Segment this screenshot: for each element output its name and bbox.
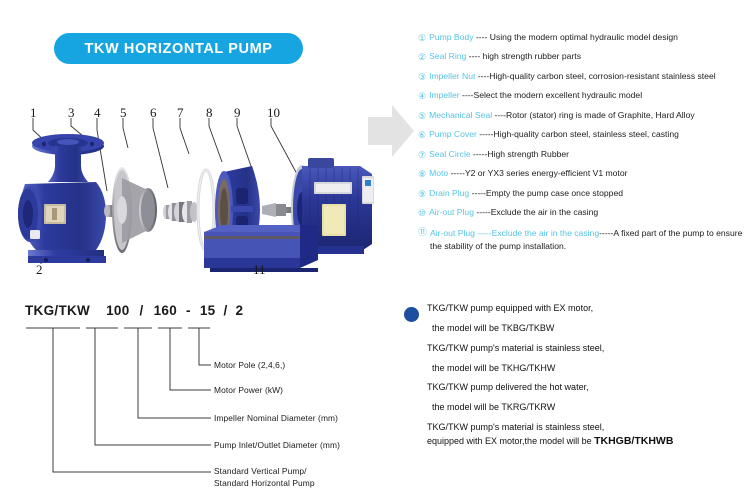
legend-term: Seal Ring [429, 51, 466, 61]
callout-number-8: 8 [206, 106, 213, 119]
legend-description: Using the modern optimal hydraulic model… [490, 32, 678, 42]
callout-number-3: 3 [68, 106, 75, 119]
note-line-5: TKG/TKW pump delivered the hot water, [404, 382, 756, 392]
page-title-banner: TKW HORIZONTAL PUMP [54, 33, 303, 64]
legend-item-6: ⑥ Pump Cover -----High-quality carbon st… [418, 130, 756, 140]
callout-number-5: 5 [120, 106, 127, 119]
legend-dash: ----- [477, 129, 494, 139]
legend-term: Drain Plug [429, 188, 469, 198]
legend-description: high strength rubber parts [483, 51, 581, 61]
nomenclature-label-pump-type-1: Standard Vertical Pump/ [214, 466, 307, 477]
note-final-model: TKHGB/TKHWB [594, 435, 673, 447]
legend-description: High-quality carbon steel, corrosion-res… [489, 71, 715, 81]
callout-number-11: 11 [253, 263, 266, 276]
legend-dash: ---- [492, 110, 506, 120]
legend-circled-number: ⑦ [418, 150, 426, 160]
legend-dash: ----- [469, 188, 486, 198]
callout-number-4: 4 [94, 106, 101, 119]
callout-number-6: 6 [150, 106, 157, 119]
legend-item-11: ⑪ Air-out Plug -----Exclude the air in t… [418, 227, 756, 253]
exploded-pump-illustration [0, 96, 392, 296]
legend-item-5: ⑤ Mechanical Seal ----Rotor (stator) rin… [418, 111, 756, 121]
legend-term: Pump Cover [429, 129, 477, 139]
legend-dash: ---- [474, 32, 490, 42]
legend-circled-number: ⑥ [418, 130, 426, 140]
legend-description: Y2 or YX3 series energy-efficient V1 mot… [465, 168, 628, 178]
callout-number-1: 1 [30, 106, 37, 119]
note-line-2: the model will be TKBG/TKBW [404, 323, 756, 333]
legend-circled-number: ③ [418, 72, 426, 82]
legend-dash: ----- [471, 149, 488, 159]
legend-dash: ---- [466, 51, 482, 61]
note-line-6: the model will be TKRG/TKRW [404, 402, 756, 412]
page-title: TKW HORIZONTAL PUMP [84, 41, 272, 57]
callout-number-9: 9 [234, 106, 241, 119]
note-line-3: TKG/TKW pump's material is stainless ste… [404, 343, 756, 353]
legend-item-7: ⑦ Seal Circle -----High strength Rubber [418, 150, 756, 160]
legend-item-3: ③ Impeller Nut ----High-quality carbon s… [418, 72, 756, 82]
nomenclature-label-pump-type-2: Standard Horizontal Pump [214, 478, 315, 489]
legend-item-8: ⑧ Moto -----Y2 or YX3 series energy-effi… [418, 169, 756, 179]
legend-term: Mechanical Seal [429, 110, 492, 120]
legend-circled-number: ⑧ [418, 169, 426, 179]
note-line-7: TKG/TKW pump's material is stainless ste… [404, 422, 756, 432]
legend-description: High-quality carbon steel, stainless ste… [494, 129, 679, 139]
legend-circled-number: ① [418, 33, 426, 43]
model-variant-notes: TKG/TKW pump equipped with EX motor, the… [404, 303, 756, 457]
legend-circled-number: ② [418, 52, 426, 62]
legend-term: Air-out Plug -----Exclude the air in the… [430, 228, 599, 238]
legend-item-2: ② Seal Ring ---- high strength rubber pa… [418, 52, 756, 62]
pump-spec-sheet: TKW HORIZONTAL PUMP [0, 0, 756, 500]
callout-number-10: 10 [267, 106, 280, 119]
callout-number-2: 2 [36, 263, 43, 276]
legend-term: Pump Body [429, 32, 473, 42]
callout-number-7: 7 [177, 106, 184, 119]
legend-term: Seal Circle [429, 149, 471, 159]
legend-item-9: ⑨ Drain Plug -----Empty the pump case on… [418, 189, 756, 199]
bullet-dot-icon [404, 307, 419, 322]
note-line-1: TKG/TKW pump equipped with EX motor, [404, 303, 756, 313]
legend-item-1: ① Pump Body ---- Using the modern optima… [418, 33, 756, 43]
grey-arrow-icon [368, 103, 414, 159]
nomenclature-label-impeller-dia: Impeller Nominal Diameter (mm) [214, 413, 338, 424]
legend-term: Air-out Plug [429, 207, 474, 217]
legend-description: Exclude the air in the casing [491, 207, 599, 217]
nomenclature-label-motor-power: Motor Power (kW) [214, 385, 283, 396]
nomenclature-leader-lines [0, 295, 392, 500]
note-line-8: equipped with EX motor,the model will be… [404, 435, 756, 447]
legend-item-10: ⑩ Air-out Plug -----Exclude the air in t… [418, 208, 756, 218]
legend-circled-number: ⑤ [418, 111, 426, 121]
nomenclature-label-motor-pole: Motor Pole (2,4,6,) [214, 360, 285, 371]
legend-term: Impeller Nut [429, 71, 475, 81]
legend-description: Rotor (stator) ring is made of Graphite,… [506, 110, 695, 120]
legend-dash: ---- [475, 71, 489, 81]
legend-term: Moto [429, 168, 448, 178]
legend-circled-number: ④ [418, 91, 426, 101]
legend-circled-number: ⑨ [418, 189, 426, 199]
legend-description: Empty the pump case once stopped [486, 188, 623, 198]
legend-item-4: ④ Impeller ----Select the modern excelle… [418, 91, 756, 101]
note-line-4: the model will be TKHG/TKHW [404, 363, 756, 373]
legend-dash: ----- [448, 168, 465, 178]
legend-dash: ----- [474, 207, 491, 217]
legend-circled-number: ⑩ [418, 208, 426, 218]
legend-term: Impeller [429, 90, 460, 100]
nomenclature-label-inlet-dia: Pump Inlet/Outlet Diameter (mm) [214, 440, 340, 451]
model-nomenclature-diagram: TKG/TKW100/160-15/2 [0, 295, 392, 500]
legend-dash: ---- [460, 90, 474, 100]
note-final-prefix: equipped with EX motor,the model will be [427, 436, 594, 446]
parts-legend-list: ① Pump Body ---- Using the modern optima… [418, 33, 756, 262]
legend-circled-number: ⑪ [418, 227, 427, 237]
legend-description: High strength Rubber [487, 149, 569, 159]
legend-description: Select the modern excellent hydraulic mo… [474, 90, 643, 100]
